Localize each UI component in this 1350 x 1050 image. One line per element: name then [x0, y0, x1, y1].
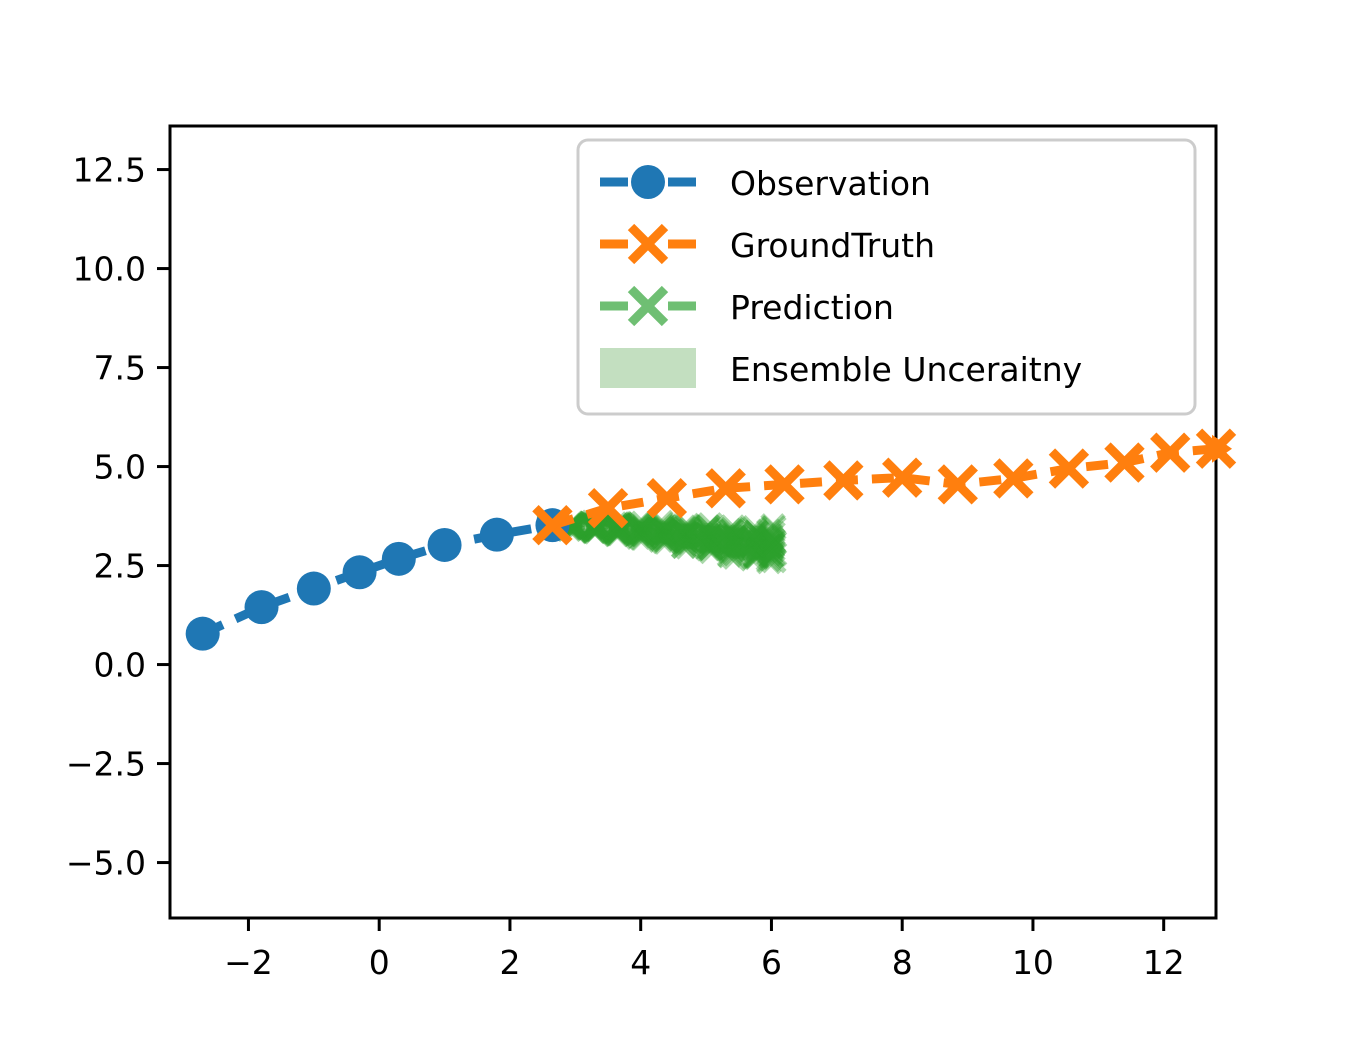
y-tick-label: 5.0: [94, 448, 146, 487]
legend-entry[interactable]: Observation: [600, 164, 931, 203]
observation-point: [480, 518, 514, 552]
x-tick-label: 4: [630, 943, 651, 982]
x-tick-label: 8: [892, 943, 913, 982]
x-tick-label: 10: [1012, 943, 1054, 982]
y-tick-label: −5.0: [66, 844, 146, 883]
y-tick-label: 0.0: [94, 646, 146, 685]
observation-point: [428, 528, 462, 562]
legend-label: GroundTruth: [730, 226, 935, 265]
y-tick-label: 7.5: [94, 349, 146, 388]
y-tick-label: −2.5: [66, 745, 146, 784]
observation-point: [297, 572, 331, 606]
chart-legend[interactable]: ObservationGroundTruthPredictionEnsemble…: [578, 140, 1195, 414]
observation-point: [186, 617, 220, 651]
x-tick-label: −2: [224, 943, 273, 982]
legend-marker-circle: [631, 165, 665, 199]
legend-label: Observation: [730, 164, 931, 203]
chart-svg: −2024681012 −5.0−2.50.02.55.07.510.012.5…: [0, 0, 1350, 1050]
x-tick-label: 6: [761, 943, 782, 982]
y-tick-label: 10.0: [73, 250, 146, 289]
observation-point: [343, 555, 377, 589]
observation-point: [245, 590, 279, 624]
legend-entry[interactable]: Ensemble Unceraitny: [600, 348, 1082, 389]
x-tick-label: 2: [499, 943, 520, 982]
figure-canvas: −2024681012 −5.0−2.50.02.55.07.510.012.5…: [0, 0, 1350, 1050]
x-tick-label: 0: [369, 943, 390, 982]
observation-point: [382, 542, 416, 576]
legend-label: Ensemble Unceraitny: [730, 350, 1082, 389]
y-tick-label: 2.5: [94, 547, 146, 586]
legend-swatch-patch: [600, 348, 696, 388]
y-tick-label: 12.5: [73, 151, 146, 190]
x-tick-label: 12: [1143, 943, 1185, 982]
legend-label: Prediction: [730, 288, 894, 327]
